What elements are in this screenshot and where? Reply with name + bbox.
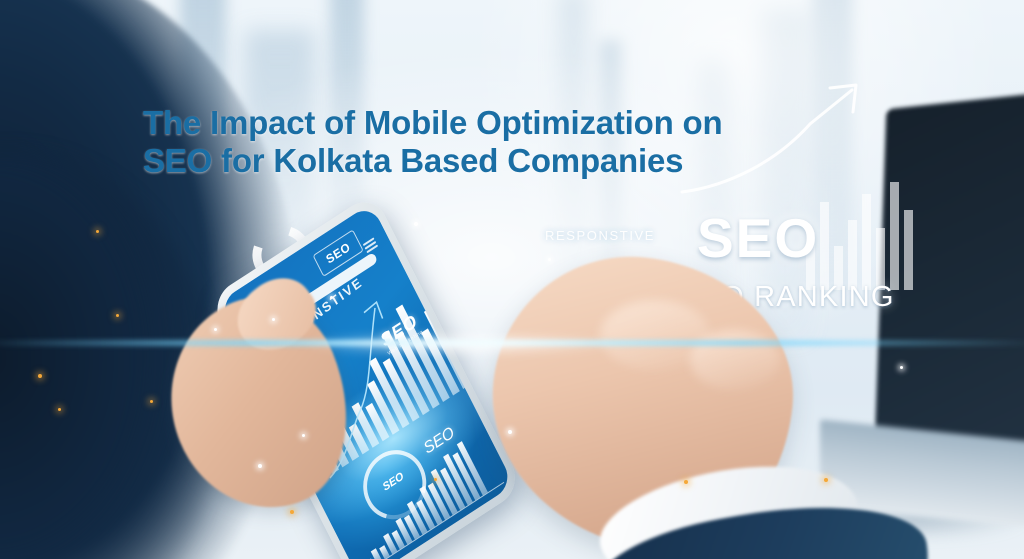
decor-bar <box>862 194 871 290</box>
decor-bar <box>820 202 829 290</box>
lens-flare-core <box>300 333 620 355</box>
decor-bar <box>848 220 857 290</box>
decor-bar <box>890 182 899 290</box>
bokeh-particle <box>330 296 333 299</box>
bokeh-particle-warm <box>116 314 119 317</box>
bokeh-particle <box>302 434 305 437</box>
page-title: The Impact of Mobile Optimization on SEO… <box>143 104 863 180</box>
seo-wordmark: SEO <box>697 206 819 270</box>
bokeh-particle-warm <box>290 510 294 514</box>
bokeh-particle <box>900 366 903 369</box>
floating-label-responstive: RESPONSTIVE <box>545 228 655 243</box>
bokeh-particle <box>548 258 551 261</box>
headline-line-2: SEO for Kolkata Based Companies <box>143 142 863 180</box>
decor-bar <box>904 210 913 290</box>
bokeh-particle <box>508 430 512 434</box>
seo-banner-image: The Impact of Mobile Optimization on SEO… <box>0 0 1024 559</box>
bokeh-particle-warm <box>58 408 61 411</box>
knuckle-highlight <box>690 330 780 390</box>
bokeh-particle <box>272 318 275 321</box>
bokeh-particle-warm <box>38 374 42 378</box>
bokeh-particle-warm <box>96 230 99 233</box>
bokeh-particle-warm <box>434 478 437 481</box>
bokeh-particle <box>258 464 262 468</box>
bokeh-particle <box>414 222 418 226</box>
headline-line-1: The Impact of Mobile Optimization on <box>143 104 722 141</box>
bokeh-particle-warm <box>824 478 828 482</box>
bokeh-particle-warm <box>684 480 688 484</box>
bokeh-particle <box>214 328 217 331</box>
bokeh-particle-warm <box>150 400 153 403</box>
